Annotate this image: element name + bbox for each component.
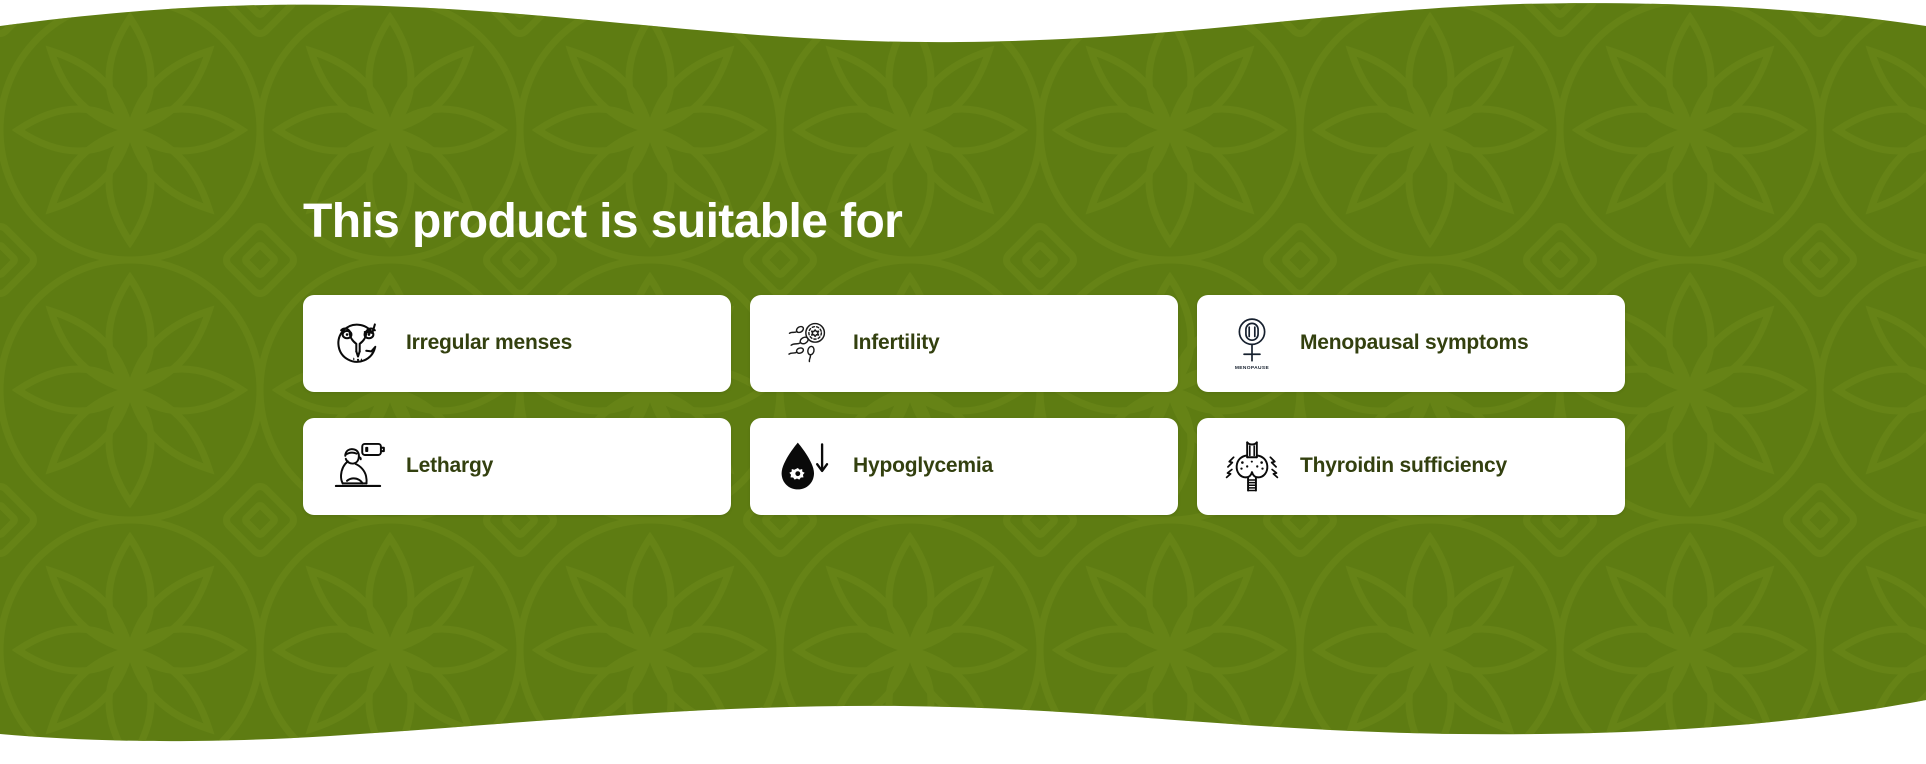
suitability-card-lethargy[interactable]: Lethargy xyxy=(303,418,731,515)
suitability-card-grid: Irregular menses xyxy=(303,295,1625,515)
tired-person-low-battery-icon xyxy=(330,435,386,497)
suitability-card-thyroidin-sufficiency[interactable]: Thyroidin sufficiency xyxy=(1197,418,1625,515)
suitability-card-label: Thyroidin sufficiency xyxy=(1300,454,1507,478)
menopause-icon-caption: MENOPAUSE xyxy=(1235,365,1270,371)
blood-drop-down-arrow-icon xyxy=(777,435,833,497)
suitability-card-menopausal-symptoms[interactable]: MENOPAUSE Menopausal symptoms xyxy=(1197,295,1625,392)
suitability-card-hypoglycemia[interactable]: Hypoglycemia xyxy=(750,418,1178,515)
sperm-egg-fertilization-icon xyxy=(777,312,833,374)
suitability-card-irregular-menses[interactable]: Irregular menses xyxy=(303,295,731,392)
suitability-card-label: Irregular menses xyxy=(406,331,572,355)
suitability-card-infertility[interactable]: Infertility xyxy=(750,295,1178,392)
menopause-female-symbol-icon: MENOPAUSE xyxy=(1224,312,1280,374)
thyroid-gland-icon xyxy=(1224,435,1280,497)
suitability-card-label: Menopausal symptoms xyxy=(1300,331,1528,355)
suitability-card-label: Infertility xyxy=(853,331,939,355)
suitable-for-section: This product is suitable for xyxy=(0,0,1926,764)
page-title: This product is suitable for xyxy=(303,196,1926,249)
uterus-cycle-icon xyxy=(330,312,386,374)
suitability-card-label: Lethargy xyxy=(406,454,493,478)
suitability-card-label: Hypoglycemia xyxy=(853,454,993,478)
section-content: This product is suitable for xyxy=(0,0,1926,764)
